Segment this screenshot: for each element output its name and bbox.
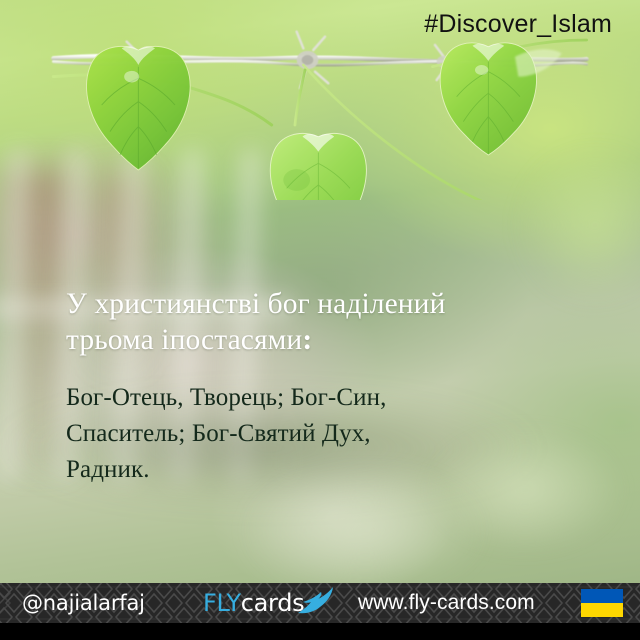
message-block: У християнстві бог наділений трьома іпос… (66, 286, 586, 488)
headline-line-1: У християнстві бог наділений (66, 288, 445, 320)
body-line-1: Бог-Отець, Творець; Бог-Син, (66, 384, 386, 411)
website-url[interactable]: www.fly-cards.com (358, 591, 535, 615)
footer-bar: @najialarfaj FLYcards www.fly-cards.com (0, 583, 640, 623)
ukraine-flag-icon (581, 589, 623, 617)
leaf-center (270, 133, 366, 200)
flycards-logo[interactable]: FLYcards (203, 589, 304, 617)
footer-black-strip (0, 623, 640, 640)
headline-line-2: трьома іпостасями (66, 324, 302, 356)
headline-colon: : (302, 324, 312, 356)
social-handle[interactable]: @najialarfaj (22, 591, 145, 615)
discover-islam-card: #Discover_Islam У християнстві бог наділ… (0, 0, 640, 640)
leaf-left (87, 46, 191, 170)
headline: У християнстві бог наділений трьома іпос… (66, 286, 586, 358)
body-line-3: Радник. (66, 456, 150, 483)
flag-blue-stripe (581, 589, 623, 603)
leaf-right (440, 43, 561, 155)
logo-fly-text: FLY (203, 589, 241, 617)
hashtag: #Discover_Islam (424, 10, 612, 39)
bird-icon (297, 585, 337, 617)
body-copy: Бог-Отець, Творець; Бог-Син, Спаситель; … (66, 380, 586, 488)
logo-cards-text: cards (241, 589, 305, 617)
body-line-2: Спаситель; Бог-Святий Дух, (66, 420, 371, 447)
flag-yellow-stripe (581, 603, 623, 617)
